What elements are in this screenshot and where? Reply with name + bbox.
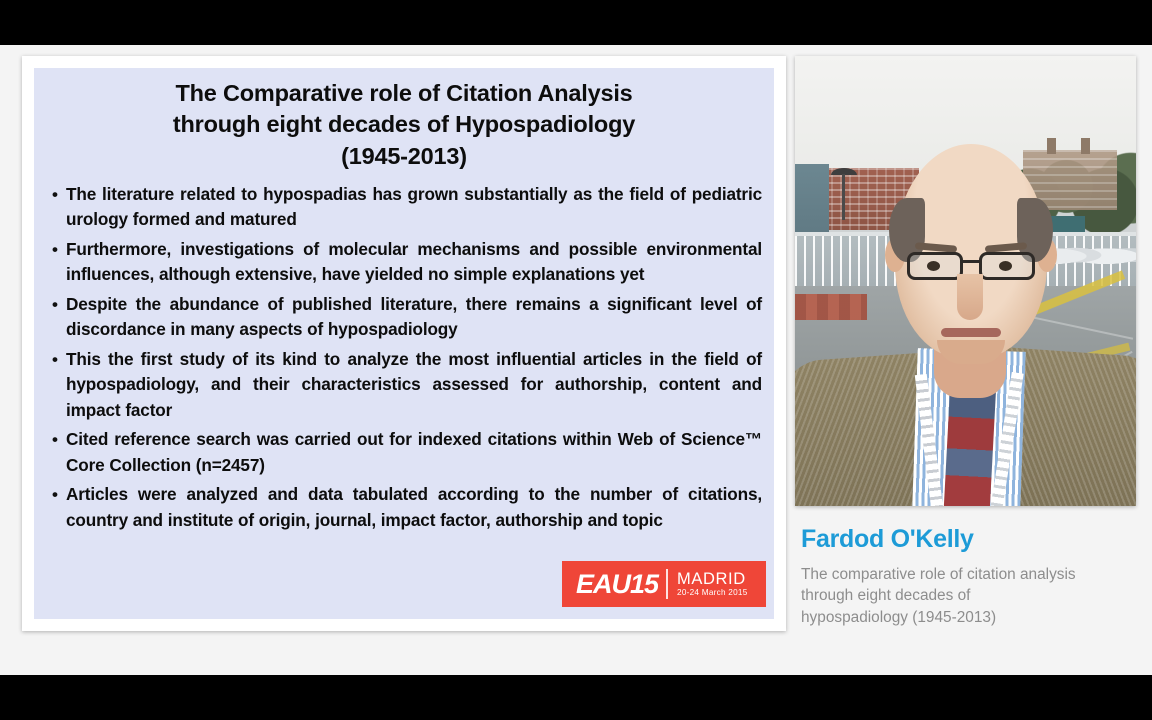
eau-logo-wordmark: EAU15 — [576, 571, 658, 598]
presentation-stage: The Comparative role of Citation Analysi… — [0, 45, 1152, 675]
slide-title-line-3: (1945-2013) — [60, 141, 748, 172]
talk-title-line-3: hypospadiology (1945-2013) — [801, 607, 1131, 629]
slide-title-line-1: The Comparative role of Citation Analysi… — [60, 78, 748, 109]
bullet-marker-icon: • — [44, 292, 66, 318]
photo-glasses-bridge — [963, 260, 979, 263]
photo-necktie — [944, 385, 996, 506]
eau-logo-location-block: MADRID 20-24 March 2015 — [677, 571, 747, 598]
letterbox-bottom-bar — [0, 675, 1152, 720]
slide-bullet-text: The literature related to hypospadias ha… — [66, 182, 762, 233]
slide-bullet-item: • Despite the abundance of published lit… — [44, 292, 762, 343]
slide-bullet-item: • Cited reference search was carried out… — [44, 427, 762, 478]
speaker-talk-title: The comparative role of citation analysi… — [801, 564, 1131, 629]
video-viewport: The Comparative role of Citation Analysi… — [0, 0, 1152, 720]
slide-card[interactable]: The Comparative role of Citation Analysi… — [22, 56, 786, 631]
slide-bullet-item: • The literature related to hypospadias … — [44, 182, 762, 233]
slide-bullet-text: Cited reference search was carried out f… — [66, 427, 762, 478]
photo-mouth — [941, 328, 1001, 337]
speaker-column: Fardod O'Kelly The comparative role of c… — [795, 56, 1136, 628]
speaker-video-still[interactable] — [795, 56, 1136, 506]
eau-logo-city: MADRID — [677, 571, 747, 588]
slide-bullet-text: This the first study of its kind to anal… — [66, 347, 762, 424]
eau-logo-divider — [666, 569, 668, 599]
talk-title-line-2: through eight decades of — [801, 585, 1131, 607]
eau15-madrid-logo: EAU15 MADRID 20-24 March 2015 — [562, 561, 766, 607]
speaker-name: Fardod O'Kelly — [801, 526, 1134, 554]
slide-bullet-item: • This the first study of its kind to an… — [44, 347, 762, 424]
slide-title: The Comparative role of Citation Analysi… — [34, 68, 774, 174]
letterbox-top-bar — [0, 0, 1152, 45]
slide-bullet-text: Despite the abundance of published liter… — [66, 292, 762, 343]
bullet-marker-icon: • — [44, 347, 66, 373]
bullet-marker-icon: • — [44, 182, 66, 208]
talk-title-line-1: The comparative role of citation analysi… — [801, 564, 1131, 586]
photo-chimney — [1047, 138, 1056, 154]
bullet-marker-icon: • — [44, 427, 66, 453]
bullet-marker-icon: • — [44, 237, 66, 263]
photo-nose — [957, 274, 983, 320]
slide-panel: The Comparative role of Citation Analysi… — [34, 68, 774, 619]
slide-bullet-text: Furthermore, investigations of molecular… — [66, 237, 762, 288]
photo-eye-left — [927, 261, 940, 271]
speaker-info-block: Fardod O'Kelly The comparative role of c… — [795, 506, 1136, 628]
slide-bullet-list: • The literature related to hypospadias … — [34, 174, 774, 534]
slide-title-line-2: through eight decades of Hypospadiology — [60, 109, 748, 140]
eau-logo-dates: 20-24 March 2015 — [677, 589, 747, 598]
slide-bullet-item: • Furthermore, investigations of molecul… — [44, 237, 762, 288]
bullet-marker-icon: • — [44, 482, 66, 508]
photo-chimney — [1081, 138, 1090, 154]
photo-eye-right — [999, 261, 1012, 271]
photo-brick-kerb — [795, 294, 867, 320]
slide-bullet-item: • Articles were analyzed and data tabula… — [44, 482, 762, 533]
photo-lamp-pole — [842, 174, 845, 220]
slide-bullet-text: Articles were analyzed and data tabulate… — [66, 482, 762, 533]
